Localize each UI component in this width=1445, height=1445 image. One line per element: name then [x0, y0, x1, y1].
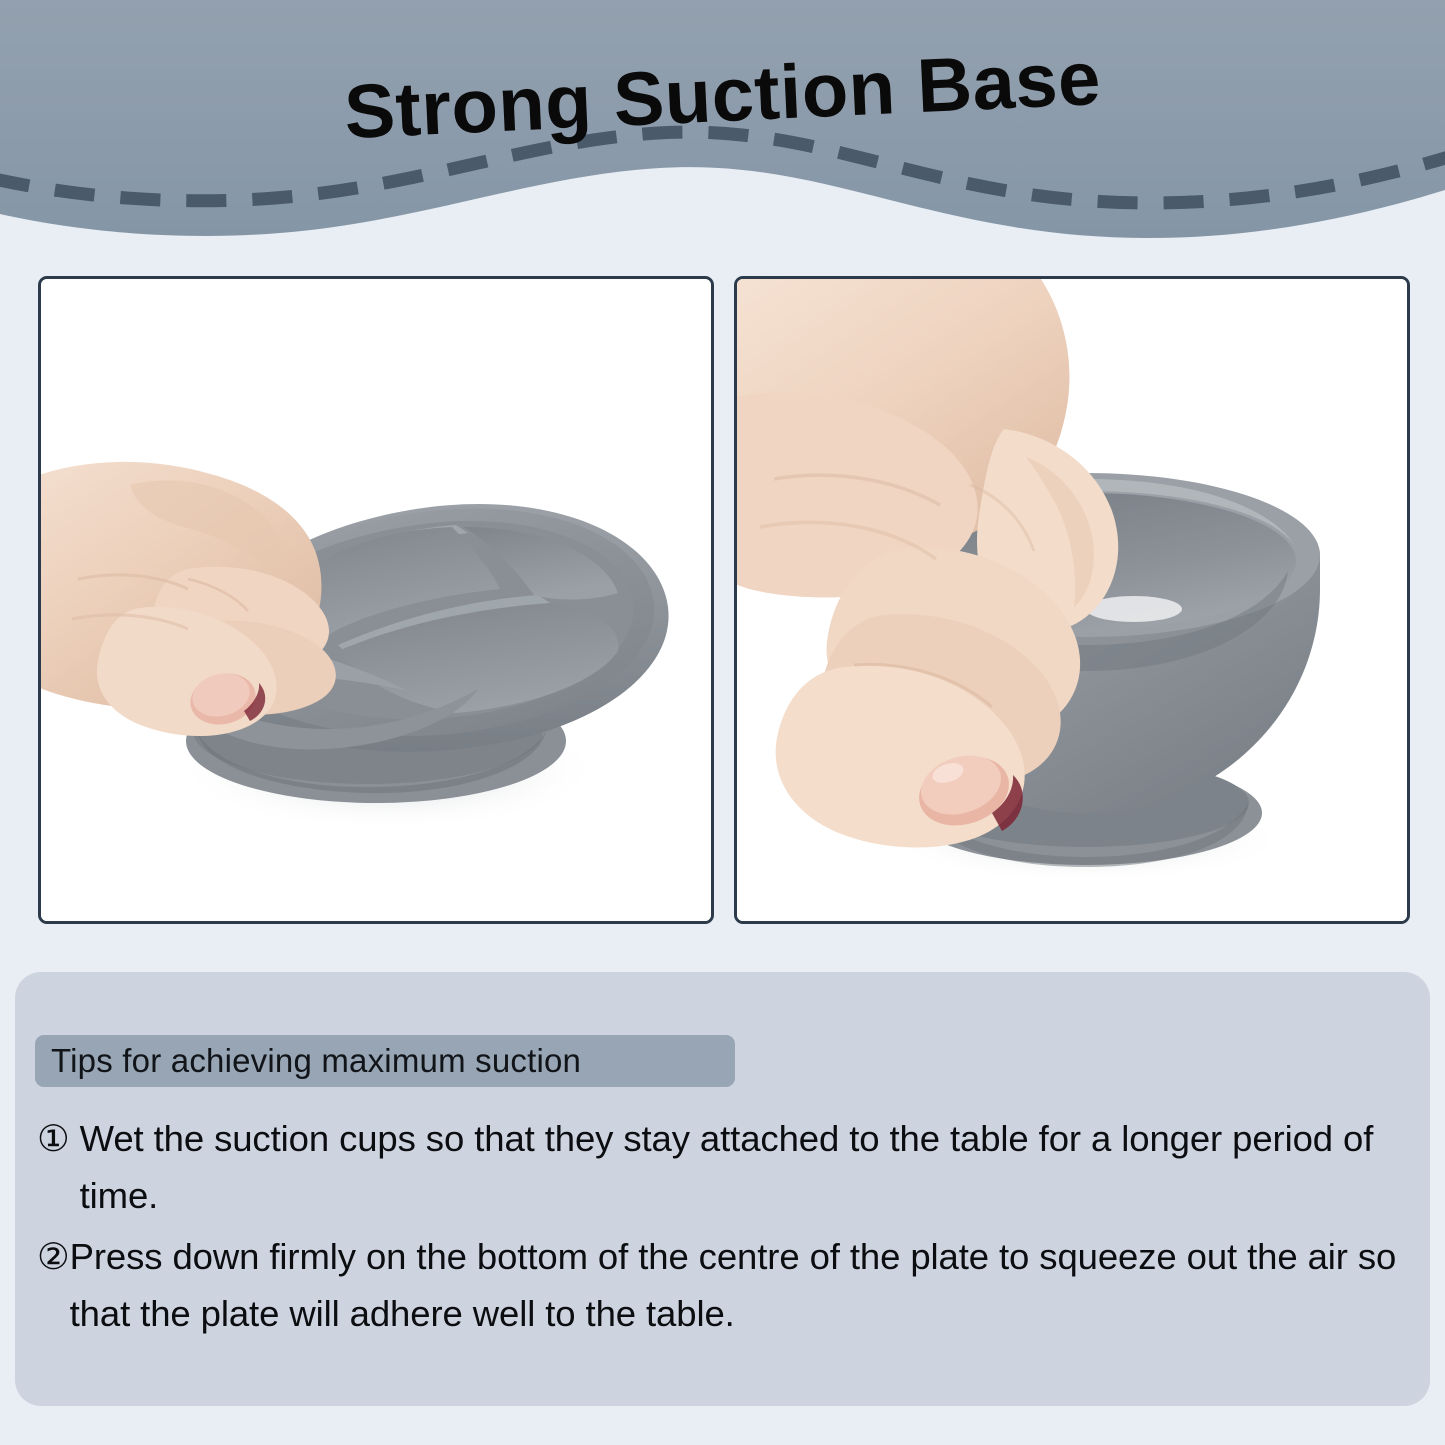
tip-text-2: Press down firmly on the bottom of the c…	[70, 1228, 1417, 1342]
tips-heading-badge: Tips for achieving maximum suction	[35, 1035, 735, 1087]
tips-list: ① Wet the suction cups so that they stay…	[37, 1110, 1417, 1346]
product-photo-row	[38, 276, 1410, 924]
tip-text-1: Wet the suction cups so that they stay a…	[70, 1110, 1417, 1224]
tip-item: ② Press down firmly on the bottom of the…	[37, 1228, 1417, 1342]
tip-item: ① Wet the suction cups so that they stay…	[37, 1110, 1417, 1224]
header-banner: Strong Suction Base	[0, 0, 1445, 250]
photo-frame-divided-plate	[38, 276, 714, 924]
tips-panel: Tips for achieving maximum suction ① Wet…	[15, 972, 1430, 1406]
tip-marker-1: ①	[37, 1110, 70, 1167]
tips-heading-text: Tips for achieving maximum suction	[51, 1042, 581, 1080]
hand-lifting-divided-plate-illustration	[41, 279, 711, 921]
hand-lifting-suction-bowl-illustration	[737, 279, 1407, 921]
photo-frame-suction-bowl	[734, 276, 1410, 924]
tip-marker-2: ②	[37, 1228, 70, 1285]
